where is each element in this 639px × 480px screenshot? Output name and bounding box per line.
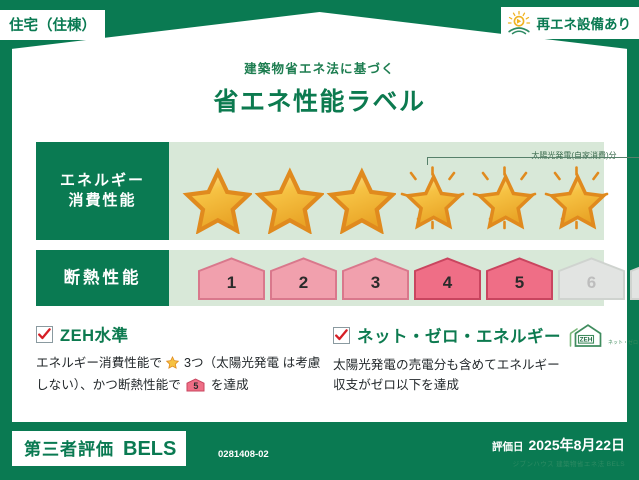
title-subtitle: 建築物省エネ法に基づく	[0, 58, 639, 77]
insulation-badge-7: 7	[629, 257, 639, 300]
zeh-standard-title: ZEH水準	[60, 322, 129, 346]
footer-bar: 第三者評価 BELS 0281408-02 評価日 2025年8月22日 ジブン…	[0, 422, 639, 480]
star-icon	[325, 164, 396, 234]
bels-number: 0281408-02	[218, 449, 269, 460]
insulation-badge-number: 7	[629, 274, 639, 291]
net-zero-body-line2: 収支がゼロ以下を達成	[333, 375, 610, 395]
label-outer-frame: 住宅（住棟） 再エネ設備あり 建築	[0, 0, 639, 480]
insulation-badge-number: 5	[485, 274, 554, 291]
net-zero-head: ネット・ゼロ・エネルギー ZEH ネット・ゼロ・エネルギー・ハウス	[333, 322, 610, 348]
svg-text:ZEH: ZEH	[580, 337, 593, 344]
zeh-logo-subtext: ネット・ゼロ・エネルギー・ハウス	[608, 339, 639, 348]
zeh-standard-head: ZEH水準	[36, 322, 323, 346]
insulation-badge-1: 1	[197, 257, 266, 300]
bels-label: BELS	[123, 438, 176, 461]
net-zero-body: 太陽光発電の売電分も含めてエネルギー 収支がゼロ以下を達成	[333, 355, 610, 396]
star-icon-solar	[397, 164, 468, 234]
evaluation-date-label: 評価日	[492, 439, 524, 454]
evaluation-date-block: 評価日 2025年8月22日 ジブンハウス 建築物省エネ法 BELS	[492, 435, 625, 468]
energy-performance-body: 太陽光発電(自家消費)分	[169, 142, 604, 240]
building-type-tag: 住宅（住棟）	[0, 10, 105, 40]
zeh-house-logo: ZEH ネット・ゼロ・エネルギー・ハウス	[566, 322, 639, 348]
insulation-badge-6: 6	[557, 257, 626, 300]
evaluation-date-line: 評価日 2025年8月22日	[492, 435, 625, 455]
inline-badge-number: 5	[186, 382, 205, 391]
insulation-label-text: 断熱性能	[64, 267, 142, 289]
renewable-energy-badge: 再エネ設備あり	[501, 7, 639, 39]
sun-icon	[506, 10, 532, 36]
page-title: 省エネ性能ラベル	[0, 82, 639, 118]
insulation-badge-number: 3	[341, 274, 410, 291]
insulation-badge-number: 1	[197, 274, 266, 291]
zeh-body-part1: エネルギー消費性能で	[36, 356, 162, 370]
star-icon-solar	[469, 164, 540, 234]
evaluation-date-value: 2025年8月22日	[528, 435, 625, 455]
zeh-standard-body: エネルギー消費性能で 3つ（太陽光発電 は考慮しない）、かつ断熱性能で 5 を達…	[36, 353, 323, 396]
insulation-performance-label: 断熱性能	[36, 250, 169, 306]
insulation-badge-number: 2	[269, 274, 338, 291]
energy-performance-label: エネルギー 消費性能	[36, 142, 169, 240]
third-party-eval-label: 第三者評価	[24, 435, 114, 460]
checkbox-checked-icon	[333, 327, 350, 344]
insulation-badge-number: 4	[413, 274, 482, 291]
insulation-scale: 1 2 3 4 5 6 7	[197, 257, 639, 300]
energy-performance-row: エネルギー 消費性能 太陽光発電(自家消費)分	[36, 142, 604, 240]
insulation-badge-number: 6	[557, 274, 626, 291]
title-block: 建築物省エネ法に基づく 省エネ性能ラベル	[0, 58, 639, 118]
star-icon-solar	[541, 164, 612, 234]
inline-insulation-badge: 5	[186, 378, 205, 392]
star-icon	[253, 164, 324, 234]
star-rating	[181, 164, 612, 234]
bels-tag: 第三者評価 BELS	[12, 431, 186, 466]
zeh-body-part4: を達成	[211, 378, 249, 392]
inline-star-icon	[166, 355, 179, 375]
star-icon	[181, 164, 252, 234]
insulation-badge-5: 5	[485, 257, 554, 300]
criteria-section: ZEH水準 エネルギー消費性能で 3つ（太陽光発電 は考慮しない）、かつ断熱性能…	[36, 322, 611, 396]
building-type-label: 住宅（住棟）	[9, 18, 96, 34]
insulation-badge-3: 3	[341, 257, 410, 300]
net-zero-title: ネット・ゼロ・エネルギー	[357, 323, 561, 347]
criterion-zeh-standard: ZEH水準 エネルギー消費性能で 3つ（太陽光発電 は考慮しない）、かつ断熱性能…	[36, 322, 323, 396]
zeh-body-part2: 3つ（太陽光発電	[184, 356, 279, 370]
insulation-performance-row: 断熱性能 1 2 3 4 5 6 7	[36, 250, 604, 306]
insulation-badge-2: 2	[269, 257, 338, 300]
checkbox-checked-icon	[36, 326, 53, 343]
evaluation-date-note: ジブンハウス 建築物省エネ法 BELS	[492, 458, 625, 468]
net-zero-body-line1: 太陽光発電の売電分も含めてエネルギー	[333, 355, 610, 375]
renewable-energy-label: 再エネ設備あり	[537, 13, 632, 33]
criterion-net-zero-energy: ネット・ゼロ・エネルギー ZEH ネット・ゼロ・エネルギー・ハウス 太陽光発電の…	[323, 322, 610, 396]
performance-rows: エネルギー 消費性能 太陽光発電(自家消費)分	[36, 142, 604, 316]
energy-label-line2: 消費性能	[68, 191, 136, 211]
insulation-badge-4: 4	[413, 257, 482, 300]
energy-label-line1: エネルギー	[60, 171, 145, 191]
insulation-performance-body: 1 2 3 4 5 6 7	[169, 250, 604, 306]
